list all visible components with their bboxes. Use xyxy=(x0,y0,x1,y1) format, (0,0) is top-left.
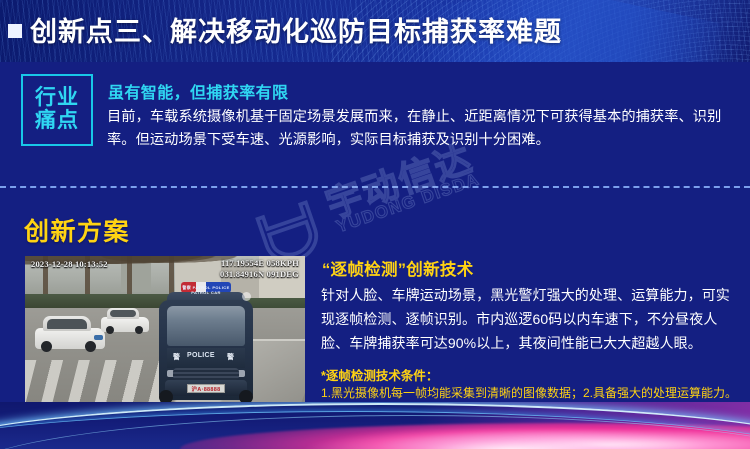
pain-point-badge-line1: 行业 xyxy=(35,87,79,110)
photo-car-wheel xyxy=(85,341,96,352)
photo-van-windshield xyxy=(167,306,245,346)
osd-gps-overlay: 117.19554E 058KPH 031.84916N 091DEG xyxy=(220,258,299,279)
photo-van-license-plate-text: 沪A·88888 xyxy=(192,385,221,393)
pain-point-subtitle: 虽有智能，但捕获率有限 xyxy=(108,79,288,103)
photo-car-wheel xyxy=(106,326,114,334)
note-title: *逐帧检测技术条件： xyxy=(321,365,438,384)
photo-police-van: 警察 PATROL POLICE PATROL CAR 警 POLICE 警 沪… xyxy=(153,278,259,404)
note-body: 1.黑光摄像机每一帧均能采集到清晰的图像数据；2.具备强大的处理运算能力。 xyxy=(321,384,741,402)
photo-car-window xyxy=(110,310,136,317)
photo-van-word-center: POLICE xyxy=(187,352,215,359)
surveillance-photo: 警察 PATROL POLICE PATROL CAR 警 POLICE 警 沪… xyxy=(25,256,305,409)
watermark-en-text: YUDONG DISDA xyxy=(334,169,483,237)
photo-car-lamp xyxy=(94,335,103,340)
photo-van-word-right: 警 xyxy=(227,352,234,362)
solution-title: 创新方案 xyxy=(24,212,130,248)
photo-van-license-plate: 沪A·88888 xyxy=(187,384,225,393)
page-title: 创新点三、解决移动化巡防目标捕获率难题 xyxy=(30,10,562,49)
photo-car-window xyxy=(47,319,87,329)
slide-root: 创新点三、解决移动化巡防目标捕获率难题 行业 痛点 虽有智能，但捕获率有限 目前… xyxy=(0,0,750,449)
osd-timestamp: 2023-12-28 10:13:52 xyxy=(31,259,108,269)
square-bullet-icon xyxy=(8,24,22,38)
photo-van-word-left: 警 xyxy=(173,352,180,362)
pain-point-badge-line2: 痛点 xyxy=(35,110,79,133)
tech-title: “逐帧检测”创新技术 xyxy=(322,256,474,280)
photo-white-sedan xyxy=(101,308,149,332)
photo-white-minivan xyxy=(35,316,105,349)
osd-gps-line1: 117.19554E 058KPH xyxy=(220,258,299,269)
photo-car-wheel xyxy=(135,326,143,334)
photo-van-windshield-text: 警察 PATROL POLICE PATROL CAR xyxy=(177,285,235,295)
footer-decoration xyxy=(0,402,750,449)
pain-point-body: 目前，车载系统摄像机基于固定场景发展而来，在静止、近距离情况下可获得基本的捕获率… xyxy=(107,106,735,153)
tech-body: 针对人脸、车牌运动场景，黑光警灯强大的处理、运算能力，可实现逐帧检测、逐帧识别。… xyxy=(321,283,736,355)
photo-van-badge-icon xyxy=(242,292,251,301)
section-divider xyxy=(0,186,750,188)
photo-van-grille xyxy=(173,368,239,380)
osd-gps-line2: 031.84916N 091DEG xyxy=(220,269,299,280)
pain-point-badge: 行业 痛点 xyxy=(21,74,93,146)
photo-car-wheel xyxy=(41,341,52,352)
